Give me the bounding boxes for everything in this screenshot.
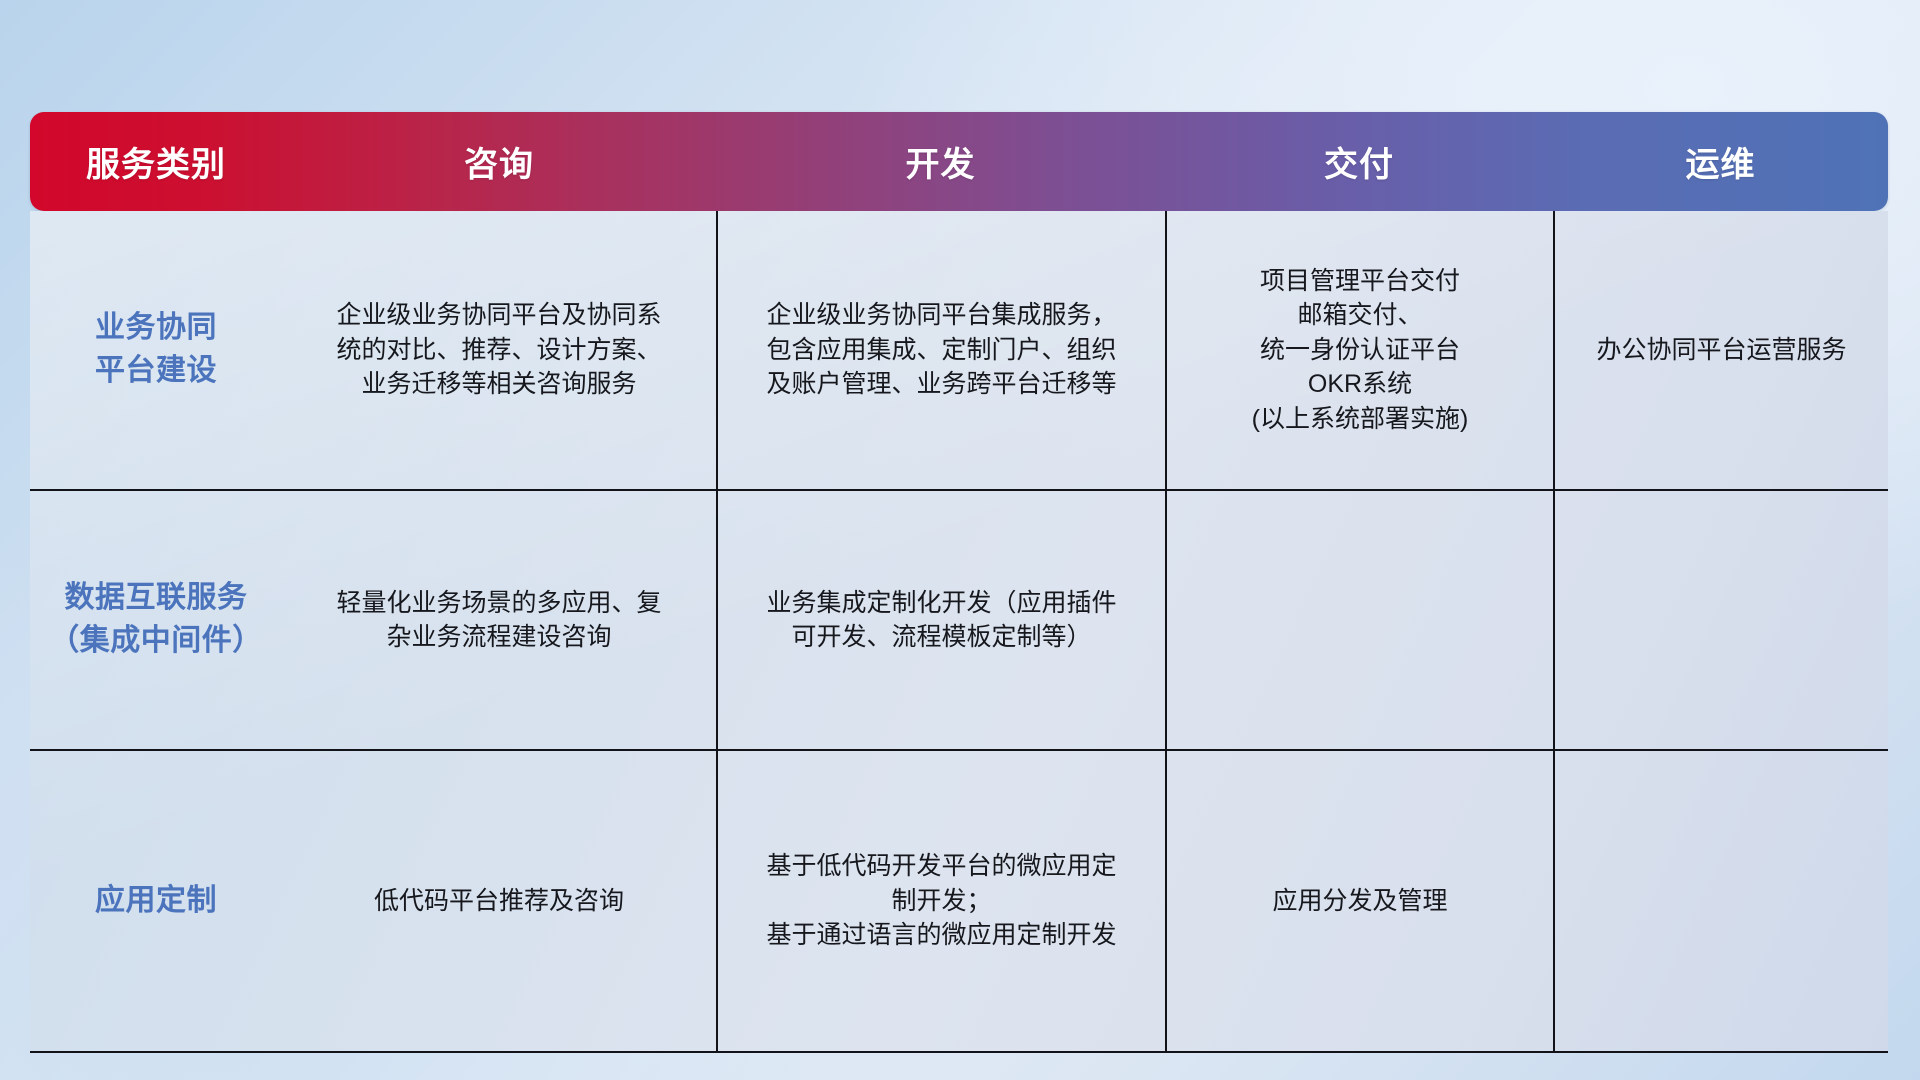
services-matrix-table: 服务类别 咨询 开发 交付 运维 业务协同 平台建设 企业级业务协同平台及协同系… (30, 112, 1888, 950)
table-row: 业务协同 平台建设 企业级业务协同平台及协同系 统的对比、推荐、设计方案、 业务… (30, 211, 1888, 491)
row-category-label: 应用定制 (30, 751, 282, 1051)
cell-consulting: 低代码平台推荐及咨询 (282, 751, 716, 1051)
table-header-row: 服务类别 咨询 开发 交付 运维 (30, 112, 1888, 211)
cell-consulting: 轻量化业务场景的多应用、复 杂业务流程建设咨询 (282, 491, 716, 749)
cell-development: 基于低代码开发平台的微应用定 制开发； 基于通过语言的微应用定制开发 (716, 751, 1165, 1051)
table-header-cell-consulting: 咨询 (282, 137, 716, 186)
table-body: 业务协同 平台建设 企业级业务协同平台及协同系 统的对比、推荐、设计方案、 业务… (30, 211, 1888, 1053)
table-row: 应用定制 低代码平台推荐及咨询 基于低代码开发平台的微应用定 制开发； 基于通过… (30, 751, 1888, 1053)
cell-operations: 办公协同平台运营服务 (1553, 211, 1888, 489)
table-header-cell-development: 开发 (716, 137, 1165, 186)
cell-development: 业务集成定制化开发（应用插件 可开发、流程模板定制等） (716, 491, 1165, 749)
row-category-label: 数据互联服务 （集成中间件） (30, 491, 282, 749)
table-row: 数据互联服务 （集成中间件） 轻量化业务场景的多应用、复 杂业务流程建设咨询 业… (30, 491, 1888, 751)
table-header-cell-delivery: 交付 (1165, 137, 1553, 186)
table-header-cell-category: 服务类别 (30, 137, 282, 186)
cell-development: 企业级业务协同平台集成服务， 包含应用集成、定制门户、组织 及账户管理、业务跨平… (716, 211, 1165, 489)
slide-canvas: 服务类别 咨询 开发 交付 运维 业务协同 平台建设 企业级业务协同平台及协同系… (0, 0, 1920, 1080)
cell-operations (1553, 491, 1888, 749)
cell-operations (1553, 751, 1888, 1051)
cell-consulting: 企业级业务协同平台及协同系 统的对比、推荐、设计方案、 业务迁移等相关咨询服务 (282, 211, 716, 489)
cell-delivery: 应用分发及管理 (1165, 751, 1553, 1051)
cell-delivery (1165, 491, 1553, 749)
cell-delivery: 项目管理平台交付 邮箱交付、 统一身份认证平台 OKR系统 (以上系统部署实施) (1165, 211, 1553, 489)
table-header-cell-operations: 运维 (1553, 137, 1888, 186)
row-category-label: 业务协同 平台建设 (30, 211, 282, 489)
